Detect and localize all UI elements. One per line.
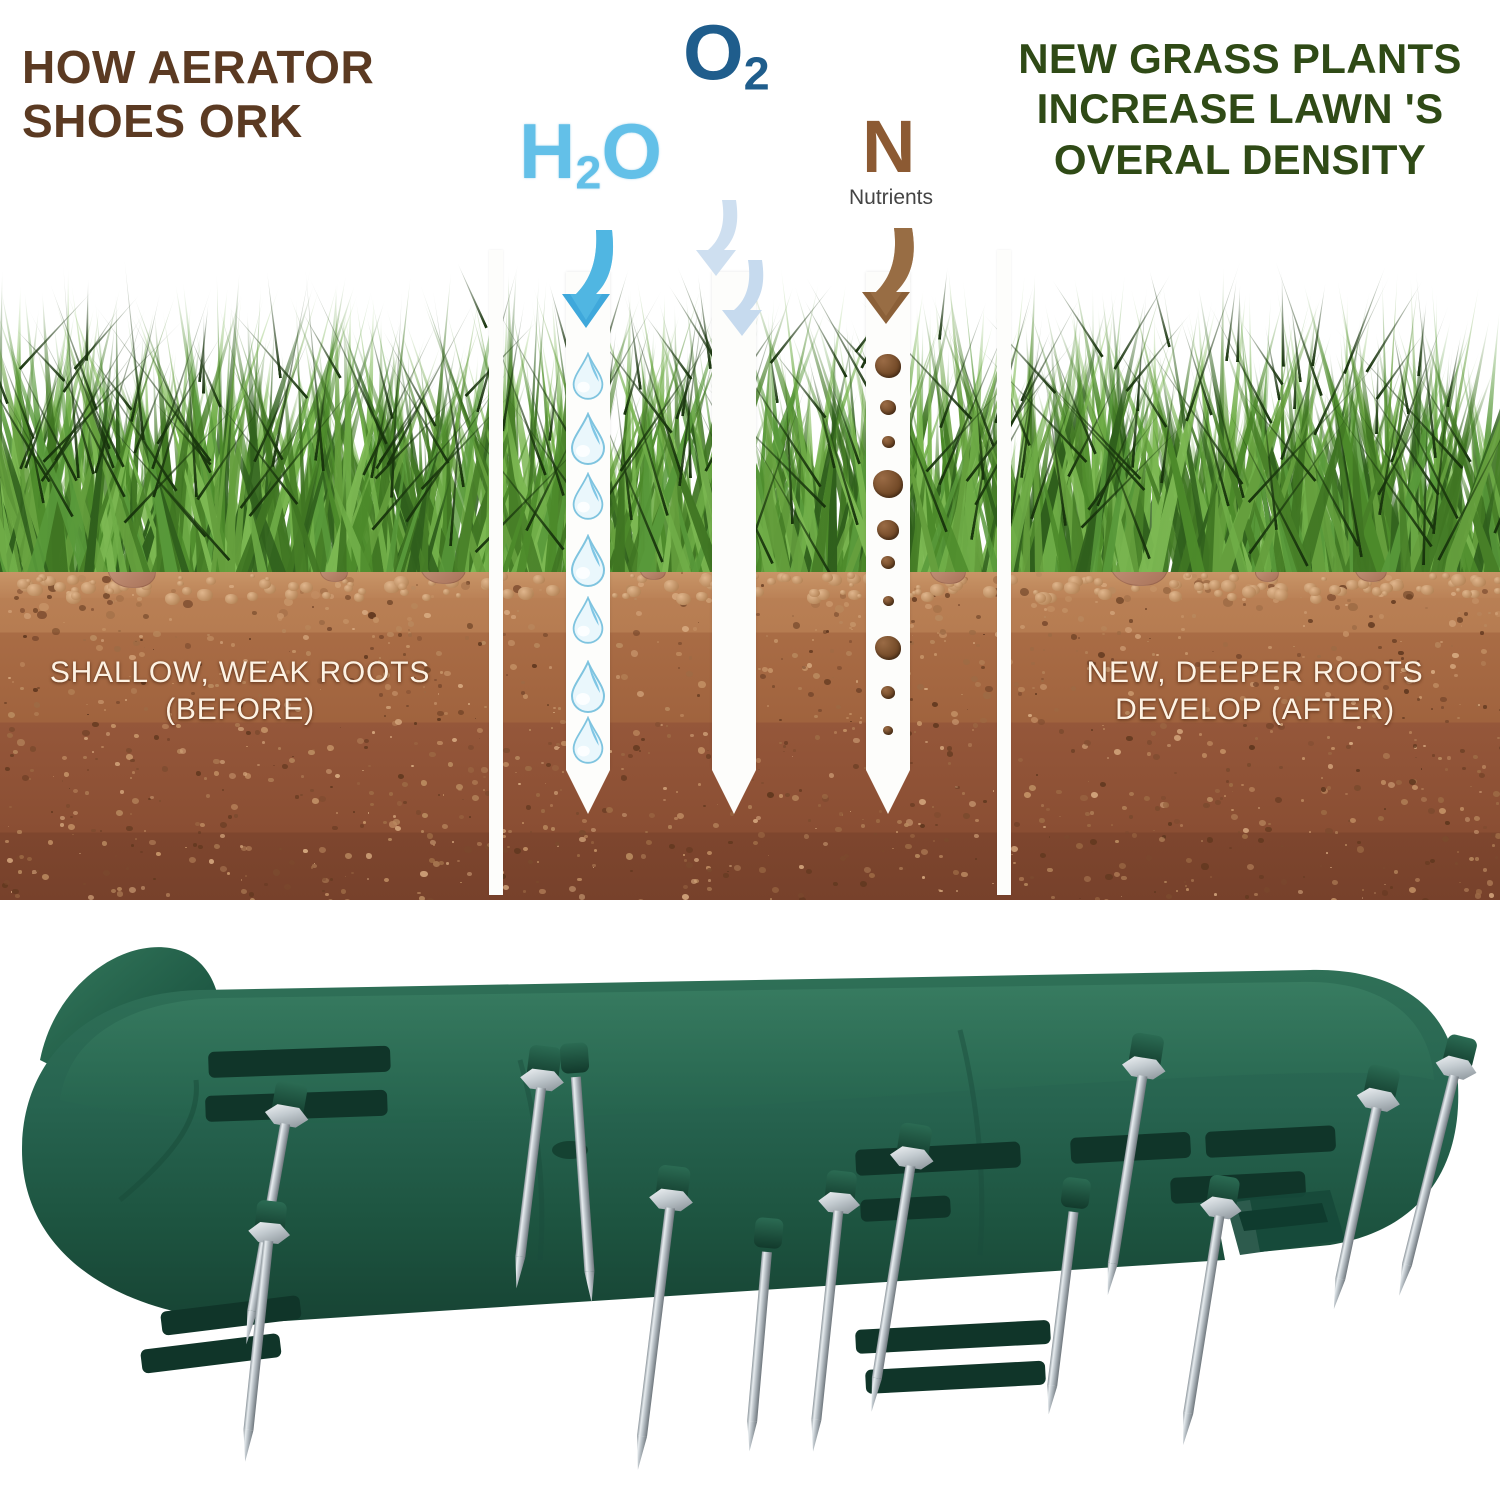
soil-grain: [439, 861, 445, 866]
soil-grain: [676, 791, 678, 792]
soil-grain: [139, 635, 143, 638]
soil-grain: [511, 615, 515, 619]
soil-grain: [793, 622, 800, 628]
soil-pebble: [546, 585, 561, 597]
aerator-infographic: H2O O2 N Nutrients HOW AERATOR SHOES ORK…: [0, 0, 1500, 1500]
soil-grain: [649, 813, 655, 818]
soil-grain: [1181, 628, 1185, 632]
soil-grain: [549, 666, 553, 669]
soil-grain: [1481, 661, 1486, 666]
soil-grain: [1326, 852, 1329, 854]
soil-grain: [325, 893, 329, 897]
soil-grain: [1330, 867, 1332, 869]
soil-grain: [1488, 612, 1491, 615]
soil-grain: [1331, 747, 1335, 751]
soil-grain: [1029, 785, 1036, 791]
soil-grain: [1308, 741, 1314, 746]
soil-grain: [834, 731, 837, 734]
soil-grain: [844, 602, 850, 607]
soil-grain: [220, 834, 225, 838]
soil-grain: [1041, 680, 1044, 682]
soil-grain: [1421, 797, 1427, 802]
soil-grain: [579, 830, 586, 836]
soil-grain: [975, 858, 978, 861]
soil-grain: [369, 791, 374, 796]
soil-grain: [1161, 796, 1166, 800]
soil-grain: [1164, 881, 1167, 883]
soil-grain: [367, 878, 370, 880]
soil-grain: [1439, 808, 1446, 814]
soil-grain: [1167, 744, 1171, 748]
soil-grain: [973, 642, 975, 644]
soil-grain: [560, 789, 562, 791]
soil-grain: [698, 783, 701, 786]
soil-grain: [1438, 757, 1442, 760]
soil-grain: [1487, 880, 1494, 886]
soil-grain: [284, 884, 291, 890]
soil-grain: [678, 642, 682, 646]
soil-grain: [556, 743, 559, 746]
soil-grain: [1491, 833, 1496, 837]
soil-grain: [1047, 868, 1053, 873]
soil-grain: [648, 752, 650, 754]
soil-grain: [1115, 840, 1118, 843]
soil-grain: [1472, 598, 1479, 604]
soil-grain: [282, 629, 286, 633]
soil-grain: [468, 745, 474, 750]
soil-grain: [1430, 859, 1435, 863]
soil-grain: [698, 747, 705, 753]
soil-grain: [362, 770, 364, 771]
soil-grain: [783, 751, 785, 753]
soil-grain: [1117, 631, 1122, 635]
soil-grain: [1241, 784, 1243, 786]
grass-tip: [265, 270, 282, 378]
soil-grain: [569, 886, 576, 892]
soil-grain: [4, 702, 7, 705]
soil-grain: [526, 805, 532, 810]
soil-grain: [861, 824, 866, 828]
soil-grain: [206, 794, 211, 798]
soil-grain: [1469, 857, 1474, 861]
soil-grain: [779, 719, 782, 722]
soil-grain: [760, 674, 766, 679]
soil-grain: [1174, 735, 1181, 741]
soil-grain: [87, 769, 90, 771]
soil-grain: [768, 668, 773, 672]
soil-pebble: [456, 593, 462, 598]
soil-grain: [939, 890, 942, 893]
soil-grain: [408, 621, 414, 626]
soil-grain: [1320, 865, 1322, 867]
nutrients-caption: Nutrients: [826, 186, 956, 210]
soil-grain: [1174, 772, 1177, 775]
soil-grain: [1309, 831, 1312, 833]
soil-grain: [1460, 749, 1465, 753]
soil-grain: [1479, 773, 1485, 778]
soil-grain: [1414, 739, 1417, 742]
soil-grain: [1343, 631, 1350, 637]
soil-grain: [1369, 615, 1374, 619]
soil-grain: [917, 721, 923, 726]
soil-grain: [481, 767, 487, 772]
soil-grain: [83, 639, 86, 641]
soil-grain: [799, 865, 804, 869]
soil-grain: [84, 737, 88, 740]
soil-grain: [387, 632, 394, 638]
soil-grain: [1270, 730, 1273, 733]
soil-grain: [1455, 862, 1459, 865]
soil-grain: [897, 820, 902, 824]
soil-grain: [864, 867, 871, 873]
soil-grain: [1275, 797, 1282, 803]
soil-grain: [132, 798, 139, 804]
soil-grain: [779, 794, 783, 798]
soil-grain: [1036, 572, 1042, 577]
soil-grain: [364, 739, 369, 743]
soil-grain: [18, 870, 23, 874]
soil-grain: [459, 815, 464, 819]
soil-grain: [384, 878, 389, 882]
soil-grain: [319, 847, 326, 853]
soil-grain: [156, 852, 162, 857]
soil-grain: [462, 799, 464, 800]
soil-grain: [366, 853, 372, 858]
soil-grain: [429, 752, 436, 758]
soil-grain: [896, 831, 898, 833]
water-droplet-icon: [570, 472, 606, 521]
soil-grain: [935, 615, 942, 621]
soil-grain: [17, 830, 21, 834]
soil-grain: [1215, 789, 1220, 793]
soil-grain: [408, 629, 410, 631]
soil-grain: [515, 756, 520, 760]
soil-grain: [1247, 763, 1252, 767]
soil-grain: [14, 596, 19, 600]
soil-pebble: [300, 582, 313, 593]
soil-grain: [327, 627, 331, 631]
grass-tip: [456, 262, 488, 329]
grass-tip: [1343, 264, 1387, 374]
soil-grain: [332, 826, 338, 831]
soil-grain: [975, 819, 979, 822]
soil-pebble: [1274, 589, 1289, 601]
soil-grain: [983, 692, 990, 698]
soil-grain: [42, 874, 50, 880]
soil-pellet: [881, 686, 895, 699]
soil-grain: [220, 866, 227, 872]
soil-grain: [1415, 878, 1420, 882]
soil-grain: [198, 845, 203, 849]
soil-grain: [912, 635, 914, 636]
soil-grain: [305, 625, 311, 630]
soil-grain: [621, 674, 628, 680]
soil-grain: [503, 762, 509, 768]
soil-grain: [686, 671, 693, 677]
soil-grain: [1036, 774, 1038, 776]
soil-grain: [1457, 851, 1459, 853]
soil-grain: [421, 830, 425, 833]
soil-grain: [277, 613, 284, 619]
soil-grain: [1381, 780, 1386, 785]
soil-grain: [421, 780, 427, 786]
soil-grain: [364, 746, 367, 749]
soil-grain: [1332, 880, 1338, 885]
soil-pebble: [533, 575, 545, 585]
soil-grain: [539, 589, 542, 591]
soil-grain: [118, 630, 121, 632]
soil-grain: [933, 840, 936, 842]
soil-grain: [1014, 682, 1020, 687]
soil-grain: [1145, 608, 1147, 610]
soil-grain: [1474, 830, 1479, 835]
soil-grain: [958, 604, 960, 606]
soil-pebble: [1085, 576, 1094, 583]
soil-grain: [16, 856, 20, 860]
soil-grain: [83, 756, 87, 760]
soil-grain: [1201, 840, 1203, 842]
how-it-works-diagram: H2O O2 N Nutrients HOW AERATOR SHOES ORK…: [0, 0, 1500, 900]
soil-grain: [1482, 765, 1487, 769]
water-molecule-label: H2O: [519, 112, 662, 196]
soil-grain: [767, 705, 769, 707]
soil-grain: [1348, 603, 1358, 611]
soil-pebble: [285, 589, 298, 599]
soil-grain: [793, 749, 796, 752]
soil-grain: [52, 628, 59, 634]
soil-grain: [537, 861, 539, 863]
soil-grain: [1011, 854, 1013, 856]
soil-grain: [698, 622, 700, 623]
soil-grain: [166, 893, 170, 896]
soil-grain: [1024, 792, 1031, 798]
soil-grain: [278, 747, 282, 750]
soil-grain: [37, 611, 47, 619]
soil-grain: [859, 721, 862, 723]
soil-grain: [30, 746, 37, 752]
soil-grain: [667, 734, 672, 738]
soil-grain: [616, 675, 620, 679]
soil-grain: [1192, 614, 1196, 618]
soil-grain: [1159, 837, 1165, 843]
soil-grain: [1354, 785, 1361, 791]
soil-grain: [1254, 893, 1258, 896]
soil-grain: [330, 878, 333, 881]
soil-grain: [551, 827, 556, 831]
soil-grain: [1080, 795, 1087, 801]
soil-grain: [528, 624, 535, 630]
soil-grain: [1020, 588, 1029, 596]
soil-grain: [503, 885, 509, 890]
soil-grain: [136, 602, 142, 607]
soil-grain: [899, 867, 903, 870]
soil-grain: [903, 868, 906, 871]
soil-grain: [1425, 607, 1428, 610]
soil-grain: [189, 857, 196, 863]
soil-grain: [835, 605, 844, 613]
soil-grain: [523, 847, 528, 851]
soil-grain: [1474, 816, 1480, 821]
soil-grain: [1470, 786, 1472, 788]
soil-grain: [518, 783, 521, 786]
soil-grain: [1423, 745, 1426, 747]
soil-grain: [591, 841, 594, 844]
soil-grain: [707, 868, 712, 872]
soil-grain: [1151, 731, 1156, 735]
soil-grain: [784, 741, 788, 744]
section-divider-right: [997, 250, 1011, 895]
soil-grain: [133, 640, 140, 646]
soil-grain: [1041, 804, 1044, 807]
soil-grain: [1153, 754, 1160, 760]
soil-grain: [214, 844, 221, 850]
soil-grain: [1249, 745, 1255, 750]
water-droplet-icon: [568, 412, 608, 466]
soil-grain: [1125, 627, 1132, 633]
soil-grain: [91, 608, 94, 611]
soil-grain: [273, 869, 280, 875]
soil-grain: [1392, 639, 1397, 644]
soil-grain: [1114, 872, 1120, 877]
soil-grain: [1088, 781, 1090, 782]
soil-grain: [85, 791, 90, 795]
soil-grain: [992, 883, 994, 885]
soil-grain: [772, 685, 776, 688]
soil-grain: [1185, 885, 1188, 887]
soil-pebble: [206, 577, 216, 585]
soil-grain: [1078, 616, 1084, 621]
soil-grain: [383, 821, 387, 825]
soil-grain: [20, 687, 24, 690]
soil-grain: [1473, 755, 1479, 760]
soil-grain: [545, 783, 547, 784]
soil-grain: [1030, 647, 1034, 651]
section-divider-left: [489, 250, 503, 895]
soil-grain: [683, 854, 685, 855]
soil-pellet: [873, 470, 903, 498]
soil-grain: [117, 891, 124, 897]
soil-grain: [1018, 692, 1023, 696]
soil-grain: [933, 605, 943, 613]
soil-grain: [408, 633, 412, 637]
soil-grain: [1335, 605, 1340, 609]
soil-grain: [129, 887, 136, 893]
soil-grain: [422, 813, 428, 818]
soil-grain: [554, 746, 559, 750]
soil-grain: [968, 743, 973, 747]
soil-grain: [319, 796, 326, 802]
soil-grain: [621, 775, 628, 781]
soil-grain: [79, 853, 81, 854]
soil-grain: [407, 617, 412, 621]
soil-grain: [1107, 757, 1110, 759]
soil-grain: [1268, 823, 1271, 826]
nitrogen-symbol-label: N: [862, 110, 915, 184]
soil-grain: [446, 862, 450, 865]
soil-grain: [1085, 651, 1089, 654]
soil-grain: [149, 840, 156, 846]
soil-grain: [229, 773, 236, 779]
soil-grain: [1489, 893, 1494, 898]
soil-grain: [543, 825, 549, 830]
soil-grain: [457, 860, 460, 863]
soil-grain: [753, 841, 758, 845]
soil-grain: [134, 734, 139, 739]
soil-grain: [676, 652, 681, 657]
soil-grain: [691, 879, 697, 884]
soil-pebble: [1227, 593, 1237, 601]
soil-grain: [47, 595, 52, 600]
soil-pebble: [250, 574, 255, 578]
soil-pebble: [422, 594, 431, 601]
soil-grain: [971, 676, 978, 682]
soil-grain: [175, 636, 177, 638]
soil-grain: [734, 865, 741, 871]
soil-grain: [1035, 693, 1037, 695]
soil-grain: [62, 780, 64, 781]
soil-grain: [132, 594, 134, 595]
soil-grain: [829, 773, 835, 778]
soil-grain: [1135, 634, 1141, 639]
soil-grain: [72, 834, 74, 835]
soil-grain: [111, 889, 116, 893]
soil-grain: [207, 636, 214, 642]
soil-grain: [1308, 619, 1313, 623]
soil-grain: [504, 610, 510, 615]
soil-grain: [442, 824, 449, 830]
soil-pellet: [881, 556, 895, 569]
soil-pebble: [921, 592, 934, 602]
soil-grain: [1259, 820, 1266, 826]
soil-grain: [60, 823, 65, 827]
soil-grain: [1451, 645, 1453, 647]
soil-grain: [822, 794, 828, 799]
soil-grain: [1440, 641, 1443, 644]
soil-grain: [120, 790, 124, 794]
soil-grain: [1048, 633, 1053, 637]
soil-grain: [534, 643, 540, 648]
soil-grain: [467, 623, 473, 628]
soil-grain: [137, 597, 141, 601]
soil-grain: [1391, 600, 1396, 604]
soil-grain: [126, 867, 129, 870]
soil-grain: [289, 651, 291, 652]
soil-grain: [849, 713, 852, 716]
grass-tip: [1365, 280, 1424, 374]
soil-grain: [183, 600, 193, 608]
soil-grain: [876, 819, 880, 823]
soil-grain: [922, 876, 925, 879]
soil-grain: [144, 830, 146, 832]
soil-grain: [1223, 642, 1229, 647]
soil-grain: [82, 730, 89, 736]
soil-grain: [130, 813, 133, 816]
soil-grain: [823, 842, 828, 846]
soil-grain: [1302, 757, 1305, 760]
soil-grain: [116, 595, 124, 602]
soil-grain: [905, 844, 912, 850]
soil-grain: [631, 650, 639, 656]
soil-grain: [1238, 831, 1240, 833]
soil-grain: [1303, 876, 1306, 878]
soil-grain: [1321, 810, 1326, 815]
soil-grain: [843, 729, 847, 732]
soil-grain: [944, 838, 949, 842]
soil-pebble: [1442, 573, 1450, 579]
soil-grain: [1105, 874, 1113, 880]
soil-grain: [29, 778, 32, 780]
soil-grain: [373, 617, 380, 623]
